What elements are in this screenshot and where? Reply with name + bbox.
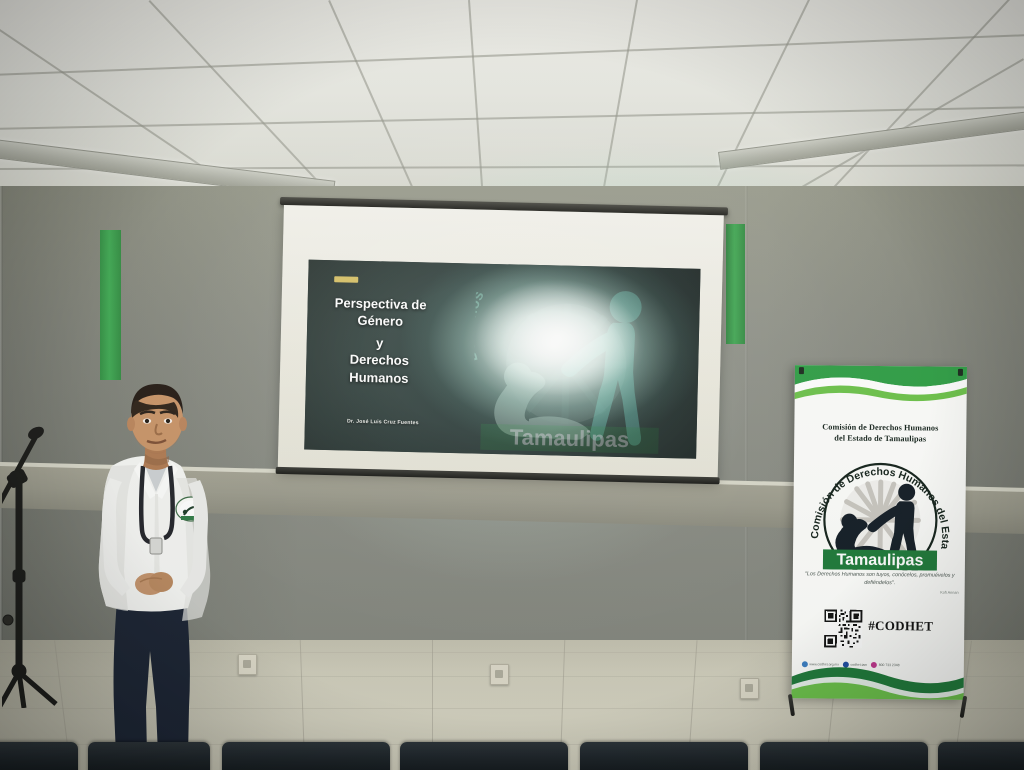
- chair: [400, 742, 568, 770]
- slide-accent-bar: [334, 276, 358, 283]
- banner-title: Comisión de Derechos Humanos del Estado …: [798, 421, 962, 445]
- presenter: [88, 370, 256, 770]
- wall-outlet: [490, 664, 509, 685]
- wall-green-stripe-right: [726, 224, 745, 344]
- chair: [760, 742, 928, 770]
- ceiling-light-fixture: [718, 109, 1024, 170]
- rollup-banner: Comisión de Derechos Humanos del Estado …: [785, 365, 973, 712]
- banner-clip-left: [799, 367, 804, 374]
- banner-title-line-1: Comisión de Derechos Humanos: [798, 421, 962, 434]
- banner-clip-right: [958, 369, 963, 376]
- banner-title-line-2: del Estado de Tamaulipas: [798, 432, 962, 445]
- banner-quote: "Los Derechos Humanos son tuyos, conócel…: [801, 571, 959, 588]
- wall-green-stripe-left: [100, 230, 121, 380]
- chair: [0, 742, 78, 770]
- projected-slide: Derechos: [304, 260, 700, 459]
- microphone-stand: [2, 392, 98, 708]
- chair: [88, 742, 210, 770]
- slide-title-line-1: Perspectiva de: [315, 294, 445, 314]
- qr-code[interactable]: [824, 609, 862, 647]
- banner-wave-bottom: [792, 648, 967, 700]
- hashtag-codhet: #CODHET: [868, 618, 964, 635]
- banner-sheet: Comisión de Derechos Humanos del Estado …: [792, 365, 967, 700]
- banner-quote-source: Kofi Annan: [801, 589, 967, 595]
- wall-outlet: [740, 678, 759, 699]
- slide-title-line-5: Humanos: [314, 367, 444, 387]
- chair: [580, 742, 748, 770]
- id-badge: [150, 538, 162, 554]
- slide-title: Perspectiva de Género y Derechos Humanos: [314, 294, 446, 388]
- projection-screen: Derechos: [277, 203, 723, 493]
- codhet-emblem: Comisión de Derechos Humanos del Estado: [809, 461, 952, 570]
- banner-wave-top: [792, 365, 967, 405]
- chair: [938, 742, 1024, 770]
- conference-room-photo: Derechos: [0, 0, 1024, 770]
- chair: [222, 742, 390, 770]
- audience-chairs: [0, 736, 1024, 770]
- emblem-band-label: Tamaulipas: [836, 552, 923, 570]
